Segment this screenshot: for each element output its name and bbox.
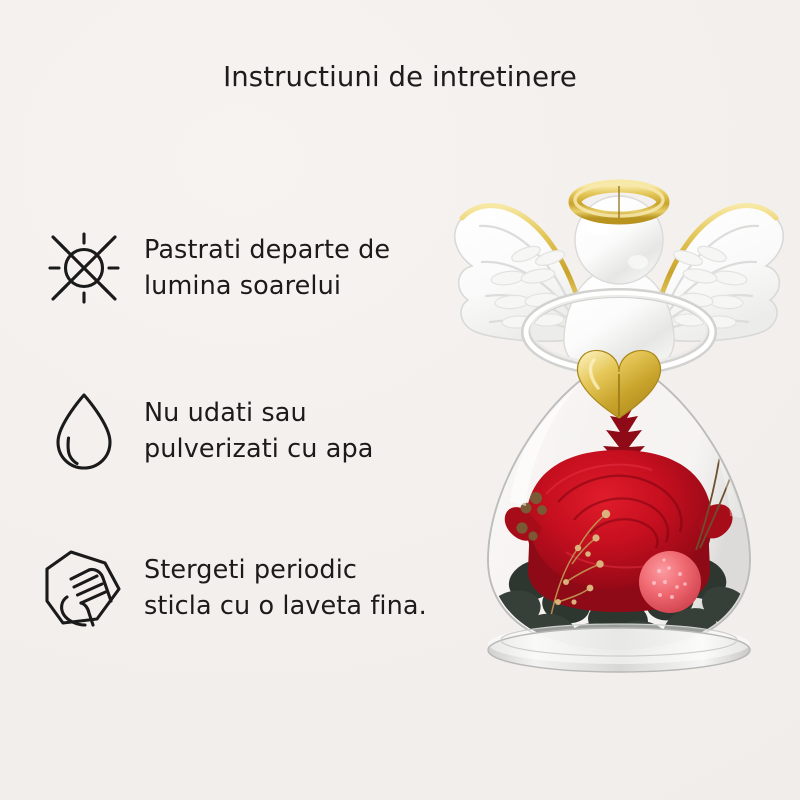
instruction-row-wipe: Stergeti periodic sticla cu o laveta fin… [38, 542, 427, 634]
product-image-glass-angel-rose-dome [438, 150, 800, 680]
no-sun-icon [38, 222, 130, 314]
water-drop-icon [38, 385, 130, 477]
gold-halo [575, 184, 663, 218]
care-instructions-page: Instructiuni de intretinere Pastrati dep… [0, 0, 800, 800]
page-title: Instructiuni de intretinere [0, 61, 800, 93]
instruction-label-wipe: Stergeti periodic sticla cu o laveta fin… [144, 552, 427, 624]
instruction-label-sunlight: Pastrati departe de lumina soarelui [144, 232, 390, 304]
instruction-row-sunlight: Pastrati departe de lumina soarelui [38, 222, 390, 314]
pink-pompom [639, 551, 701, 613]
hand-wiping-cloth-icon [38, 542, 130, 634]
instruction-label-water: Nu udati sau pulverizati cu apa [144, 395, 374, 467]
glass-base [488, 624, 750, 672]
instruction-row-water: Nu udati sau pulverizati cu apa [38, 385, 374, 477]
